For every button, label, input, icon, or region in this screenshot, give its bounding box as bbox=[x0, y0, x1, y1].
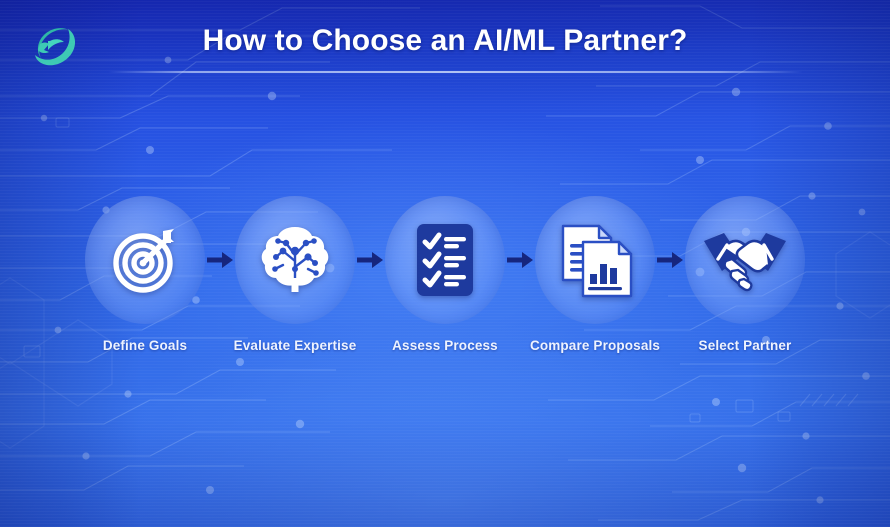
step-icon-bubble bbox=[535, 196, 655, 324]
step-label: Assess Process bbox=[392, 338, 498, 353]
ai-brain-circuit-icon bbox=[256, 221, 334, 299]
step-compare-proposals[interactable]: Compare Proposals bbox=[520, 196, 670, 353]
step-icon-bubble bbox=[385, 196, 505, 324]
step-select-partner[interactable]: Select Partner bbox=[670, 196, 820, 353]
step-label: Select Partner bbox=[699, 338, 792, 353]
target-bullseye-arrow-icon bbox=[108, 223, 182, 297]
step-icon-bubble bbox=[235, 196, 355, 324]
step-assess-process[interactable]: Assess Process bbox=[370, 196, 520, 353]
documents-bar-chart-icon bbox=[555, 220, 635, 300]
step-label: Compare Proposals bbox=[530, 338, 660, 353]
arrow-right-icon bbox=[507, 251, 533, 269]
title-divider bbox=[108, 71, 803, 73]
step-evaluate-expertise[interactable]: Evaluate Expertise bbox=[220, 196, 370, 353]
step-label: Evaluate Expertise bbox=[234, 338, 357, 353]
step-icon-bubble bbox=[685, 196, 805, 324]
step-icon-bubble bbox=[85, 196, 205, 324]
step-define-goals[interactable]: Define Goals bbox=[70, 196, 220, 353]
arrow-right-icon bbox=[657, 251, 683, 269]
checklist-clipboard-icon bbox=[411, 220, 479, 300]
page-title: How to Choose an AI/ML Partner? bbox=[0, 24, 890, 58]
arrow-right-icon bbox=[357, 251, 383, 269]
arrow-right-icon bbox=[207, 251, 233, 269]
handshake-icon bbox=[702, 227, 788, 293]
step-label: Define Goals bbox=[103, 338, 187, 353]
process-steps-row: Define Goals bbox=[0, 196, 890, 366]
infographic-canvas: How to Choose an AI/ML Partner? Defi bbox=[0, 0, 890, 527]
